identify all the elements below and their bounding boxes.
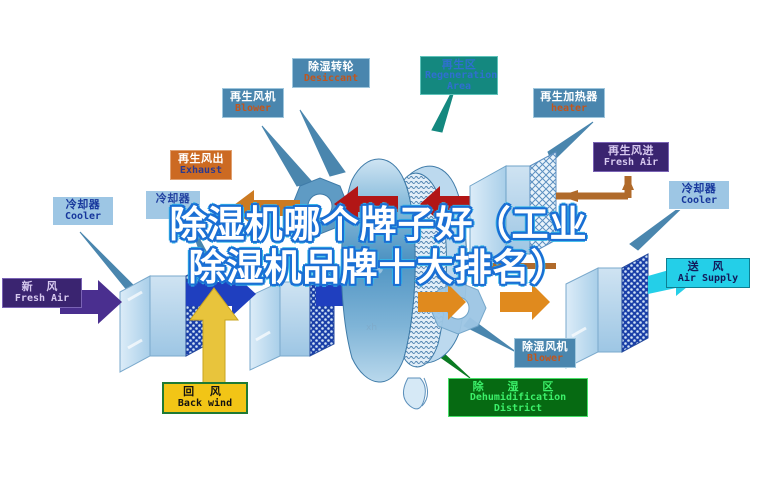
label-en: Desiccant <box>297 73 365 84</box>
label-cn: 冷却器 <box>57 199 109 211</box>
label-cooler-left[interactable]: 冷却器 Cooler <box>52 196 114 226</box>
label-cn: 再生风出 <box>175 153 227 165</box>
label-regen-exhaust[interactable]: 再生风出 Exhaust <box>170 150 232 180</box>
watermark-text: xh <box>366 323 377 333</box>
label-cooler-middle[interactable]: 冷却器 Cooler <box>145 190 201 220</box>
label-cn: 再生风进 <box>598 145 664 157</box>
label-cooler-right[interactable]: 冷却器 Cooler <box>668 180 730 210</box>
diagram-canvas: xh <box>0 0 757 488</box>
label-cn: 除湿风机 <box>519 341 571 353</box>
label-en: heater <box>538 103 600 114</box>
label-cn: 再生风机 <box>227 91 279 103</box>
label-en: Dehumidification District <box>453 393 583 414</box>
label-regen-blower[interactable]: 再生风机 Blower <box>222 88 284 118</box>
label-regen-fresh-air[interactable]: 再生风进 Fresh Air <box>593 142 669 172</box>
label-en: Fresh Air <box>598 157 664 168</box>
regen-heater-unit <box>470 152 556 272</box>
supply-cooler-unit <box>566 254 648 368</box>
label-en: Back wind <box>168 398 242 409</box>
exhaust-arrow <box>230 190 300 226</box>
regen-duct <box>556 176 628 262</box>
label-cn: 冷却器 <box>673 183 725 195</box>
label-en: Regeneration Area <box>425 71 493 92</box>
label-regen-heater[interactable]: 再生加热器 heater <box>533 88 605 118</box>
label-fresh-air-inlet[interactable]: 新 风 Fresh Air <box>2 278 82 308</box>
label-cn: 回 风 <box>168 386 242 398</box>
label-cn: 送 风 <box>671 261 745 273</box>
label-en: Blower <box>519 353 571 364</box>
label-en: Blower <box>227 103 279 114</box>
label-cn: 新 风 <box>7 281 77 293</box>
label-en: Cooler <box>57 211 109 222</box>
label-back-wind[interactable]: 回 风 Back wind <box>162 382 248 414</box>
schematic-artwork: xh <box>0 0 757 488</box>
label-dehum-blower[interactable]: 除湿风机 Blower <box>514 338 576 368</box>
label-air-supply[interactable]: 送 风 Air Supply <box>666 258 750 288</box>
label-cn: 冷却器 <box>150 193 196 205</box>
label-desiccant-rotor[interactable]: 除湿转轮 Desiccant <box>292 58 370 88</box>
label-dehum-district[interactable]: 除 湿 区 Dehumidification District <box>448 378 588 417</box>
label-regeneration-area[interactable]: 再生区 Regeneration Area <box>420 56 498 95</box>
label-en: Cooler <box>673 195 725 206</box>
label-en: Fresh Air <box>7 293 77 304</box>
label-en: Exhaust <box>175 165 227 176</box>
label-en: Air Supply <box>671 273 745 284</box>
label-cn: 再生加热器 <box>538 91 600 103</box>
label-cn: 除湿转轮 <box>297 61 365 73</box>
